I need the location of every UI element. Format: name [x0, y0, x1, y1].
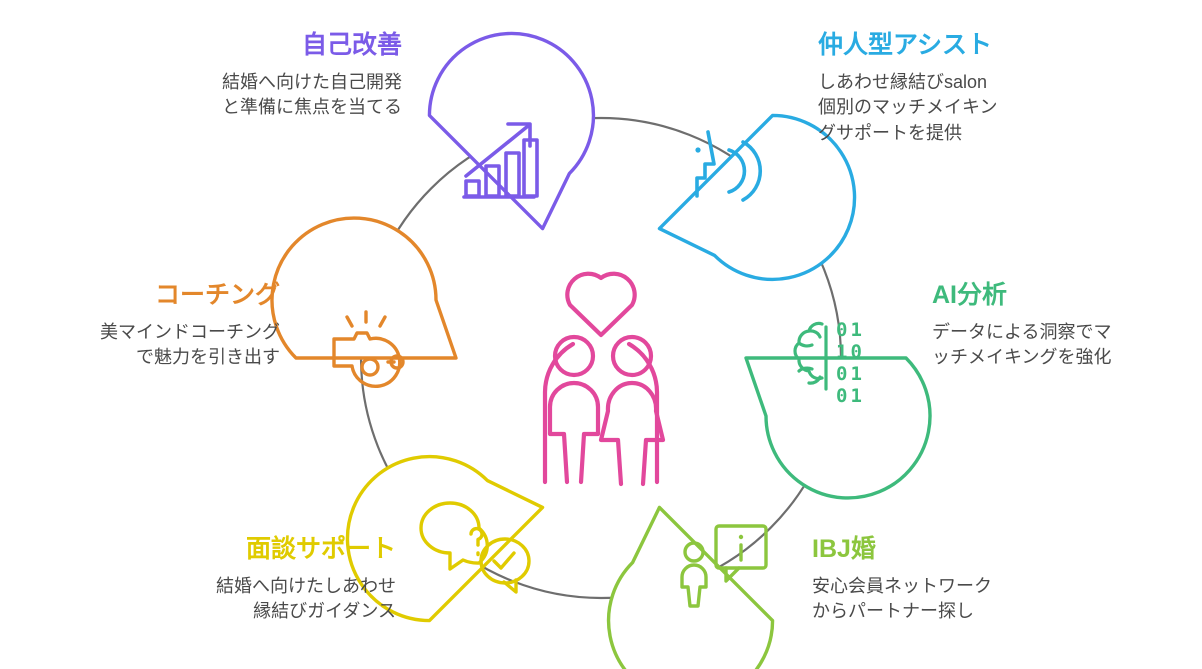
binary-row-2: 10 — [836, 341, 865, 363]
description-interview-support: 結婚へ向けたしあわせ 縁結びガイダンス — [130, 574, 396, 625]
label-block-self-improvement: 自己改善 結婚へ向けた自己開発 と準備に焦点を当てる — [132, 32, 402, 121]
teardrop-shape-coaching — [272, 218, 456, 358]
center-couple-heart-icon — [545, 274, 663, 484]
title-self-improvement: 自己改善 — [132, 32, 402, 60]
infographic-canvas: 01 10 01 01 — [0, 0, 1202, 669]
node-self-improvement[interactable] — [412, 0, 641, 229]
label-block-coaching: コーチング 美マインドコーチング で魅力を引き出す — [18, 282, 280, 371]
description-ibj-marriage: 安心会員ネットワーク からパートナー探し — [812, 574, 1082, 625]
node-ibj-marriage[interactable] — [560, 507, 789, 669]
label-block-matchmaker-assist: 仲人型アシスト しあわせ縁結びsalon 個別のマッチメイキン グサポートを提供 — [818, 32, 1118, 146]
title-ai-analysis: AI分析 — [932, 282, 1188, 310]
binary-row-4: 01 — [836, 385, 865, 407]
teardrop-shape-ibj — [560, 507, 789, 669]
title-matchmaker-assist: 仲人型アシスト — [818, 32, 1118, 60]
description-self-improvement: 結婚へ向けた自己開発 と準備に焦点を当てる — [132, 70, 402, 121]
title-interview-support: 面談サポート — [130, 536, 396, 564]
description-coaching: 美マインドコーチング で魅力を引き出す — [18, 320, 280, 371]
ai-binary-digits: 01 10 01 01 — [836, 319, 865, 407]
description-ai-analysis: データによる洞察でマ ッチメイキングを強化 — [932, 320, 1188, 371]
binary-row-3: 01 — [836, 363, 865, 385]
label-block-interview-support: 面談サポート 結婚へ向けたしあわせ 縁結びガイダンス — [130, 536, 396, 625]
binary-row-1: 01 — [836, 319, 865, 341]
title-ibj-marriage: IBJ婚 — [812, 536, 1082, 564]
label-block-ai-analysis: AI分析 データによる洞察でマ ッチメイキングを強化 — [932, 282, 1188, 371]
title-coaching: コーチング — [18, 282, 280, 310]
node-ai-analysis[interactable]: 01 10 01 01 — [746, 319, 930, 498]
node-coaching[interactable] — [272, 218, 456, 386]
description-matchmaker-assist: しあわせ縁結びsalon 個別のマッチメイキン グサポートを提供 — [818, 70, 1118, 147]
label-block-ibj-marriage: IBJ婚 安心会員ネットワーク からパートナー探し — [812, 536, 1082, 625]
